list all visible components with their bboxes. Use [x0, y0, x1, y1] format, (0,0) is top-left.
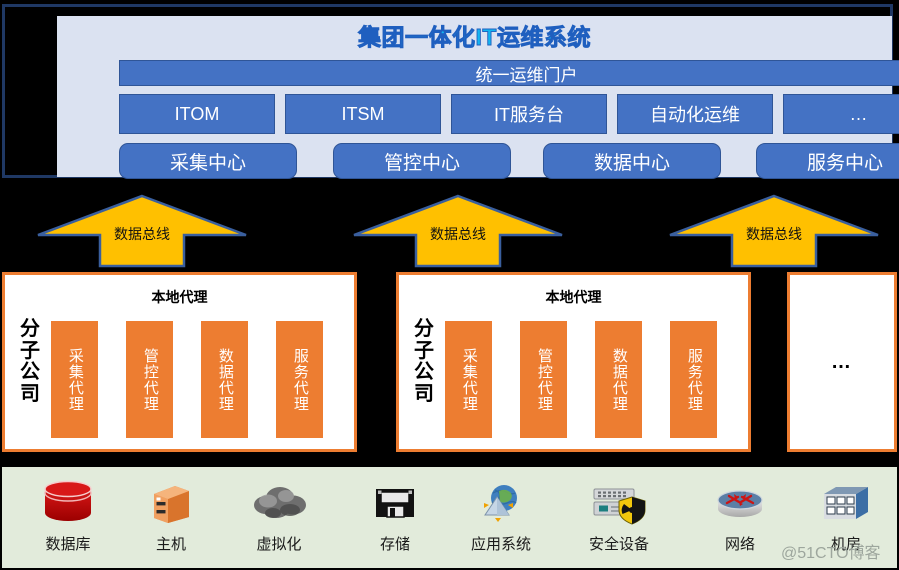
resource-label: 数据库 [20, 533, 116, 554]
agent-service[interactable]: 服务代理 [670, 321, 717, 438]
agent-collection[interactable]: 采集代理 [51, 321, 98, 438]
module-more[interactable]: … [783, 94, 899, 134]
resource-label: 网络 [692, 533, 788, 554]
resource-security-device[interactable]: 安全设备 [571, 477, 667, 565]
unified-portal-bar[interactable]: 统一运维门户 [119, 60, 899, 86]
resource-database[interactable]: 数据库 [20, 477, 116, 565]
data-bus-label: 数据总线 [352, 224, 564, 244]
module-itsm[interactable]: ITSM [285, 94, 441, 134]
server-box-icon [123, 477, 219, 529]
local-agent-title: 本地代理 [399, 287, 748, 307]
agent-control[interactable]: 管控代理 [520, 321, 567, 438]
globe-app-icon [453, 477, 549, 529]
resource-datacenter[interactable]: 机房 [798, 477, 894, 565]
datacenter-rack-icon [798, 477, 894, 529]
resource-label: 安全设备 [571, 533, 667, 554]
data-bus-arrow-2: 数据总线 [352, 194, 564, 268]
security-shield-icon [571, 477, 667, 529]
data-bus-label: 数据总线 [668, 224, 880, 244]
data-bus-label: 数据总线 [36, 224, 248, 244]
branch-company-box-1: 本地代理 分子公司 采集代理 管控代理 数据代理 服务代理 [2, 272, 357, 452]
more-branches-ellipsis: … [790, 275, 894, 449]
resource-label: 应用系统 [453, 533, 549, 554]
diagram-canvas: 集团一体化IT运维系统 统一运维门户 ITOM ITSM IT服务台 自动化运维… [0, 0, 899, 570]
database-icon [20, 477, 116, 529]
center-data[interactable]: 数据中心 [543, 143, 721, 179]
cloud-icon [231, 477, 327, 529]
resource-label: 虚拟化 [231, 533, 327, 554]
module-itom[interactable]: ITOM [119, 94, 275, 134]
module-it-servicedesk[interactable]: IT服务台 [451, 94, 607, 134]
branch-company-box-more: … [787, 272, 897, 452]
resource-label: 存储 [347, 533, 443, 554]
resource-virtualization[interactable]: 虚拟化 [231, 477, 327, 565]
resource-layer: 数据库 主机 [2, 467, 897, 568]
agent-data[interactable]: 数据代理 [201, 321, 248, 438]
local-agent-title: 本地代理 [5, 287, 354, 307]
agent-control[interactable]: 管控代理 [126, 321, 173, 438]
network-router-icon [692, 477, 788, 529]
center-service[interactable]: 服务中心 [756, 143, 899, 179]
resource-storage[interactable]: 存储 [347, 477, 443, 565]
platform-frame: 集团一体化IT运维系统 统一运维门户 ITOM ITSM IT服务台 自动化运维… [2, 4, 893, 178]
resource-label: 主机 [123, 533, 219, 554]
resource-application[interactable]: 应用系统 [453, 477, 549, 565]
page-title: 集团一体化IT运维系统 [57, 22, 892, 52]
floppy-storage-icon [347, 477, 443, 529]
data-bus-arrow-1: 数据总线 [36, 194, 248, 268]
agent-collection[interactable]: 采集代理 [445, 321, 492, 438]
resource-host[interactable]: 主机 [123, 477, 219, 565]
data-bus-arrow-3: 数据总线 [668, 194, 880, 268]
center-collection[interactable]: 采集中心 [119, 143, 297, 179]
platform-panel: 集团一体化IT运维系统 统一运维门户 ITOM ITSM IT服务台 自动化运维… [57, 16, 892, 177]
center-control[interactable]: 管控中心 [333, 143, 511, 179]
branch-company-box-2: 本地代理 分子公司 采集代理 管控代理 数据代理 服务代理 [396, 272, 751, 452]
branch-company-label: 分子公司 [411, 319, 437, 405]
module-automation[interactable]: 自动化运维 [617, 94, 773, 134]
branch-company-label: 分子公司 [17, 319, 43, 405]
resource-label: 机房 [798, 533, 894, 554]
agent-service[interactable]: 服务代理 [276, 321, 323, 438]
resource-network[interactable]: 网络 [692, 477, 788, 565]
agent-data[interactable]: 数据代理 [595, 321, 642, 438]
